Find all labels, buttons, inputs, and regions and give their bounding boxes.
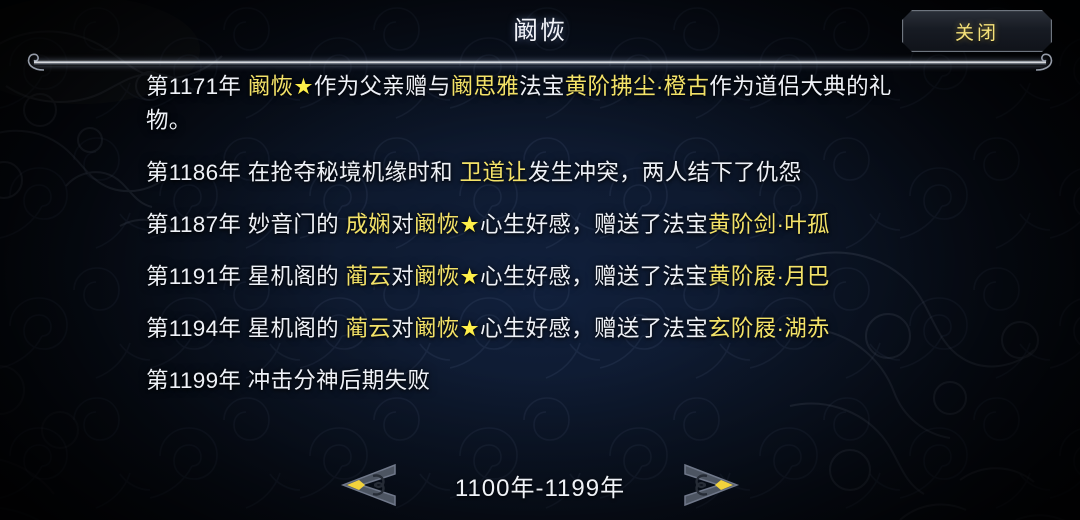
log-line-year: 第1187年 xyxy=(146,212,248,237)
close-button-label: 关闭 xyxy=(955,18,999,45)
log-line: 第1186年 在抢夺秘境机缘时和 卫道让发生冲突，两人结下了仇怨 xyxy=(146,156,930,190)
log-segment-name[interactable]: 阚恢 xyxy=(414,316,460,341)
event-log-scroll-area[interactable]: 第1169年 在行商时获得了收益，灵脉吸纳率暂增5% 第1171年 阚恢★作为父… xyxy=(0,64,1080,442)
log-line-year: 第1194年 xyxy=(146,316,248,341)
log-segment-plain: 星机阁的 xyxy=(248,316,346,341)
log-segment-plain: 对 xyxy=(391,212,414,237)
log-segment-star: ★ xyxy=(293,74,313,99)
log-line-year: 第1199年 xyxy=(146,368,248,393)
log-segment-star: ★ xyxy=(460,316,480,341)
log-line-year: 第1171年 xyxy=(146,74,248,99)
log-segment-name[interactable]: 成娴 xyxy=(346,212,392,237)
log-segment-plain: 星机阁的 xyxy=(248,264,346,289)
log-segment-star: ★ xyxy=(460,264,480,289)
log-segment-name[interactable]: 蔺云 xyxy=(346,264,392,289)
close-button[interactable]: 关闭 xyxy=(902,10,1052,52)
log-segment-name[interactable]: 阚恢 xyxy=(248,74,294,99)
log-segment-plain: 在抢夺秘境机缘时和 xyxy=(248,160,460,185)
log-segment-plain: 对 xyxy=(391,316,414,341)
log-segment-plain: 作为父亲赠与 xyxy=(314,74,451,99)
log-segment-item[interactable]: 黄阶剑·叶孤 xyxy=(708,212,830,237)
log-segment-plain: 心生好感，赠送了法宝 xyxy=(480,316,708,341)
log-segment-plain: 心生好感，赠送了法宝 xyxy=(480,212,708,237)
log-segment-item[interactable]: 玄阶屐·湖赤 xyxy=(708,316,830,341)
log-segment-plain: 冲击分神后期失败 xyxy=(248,368,430,393)
log-segment-star: ★ xyxy=(460,212,480,237)
log-line-year: 第1191年 xyxy=(146,264,248,289)
log-line: 第1194年 星机阁的 蔺云对阚恢★心生好感，赠送了法宝玄阶屐·湖赤 xyxy=(146,312,930,346)
log-segment-name[interactable]: 阚恢 xyxy=(414,264,460,289)
log-segment-item[interactable]: 黄阶屐·月巴 xyxy=(708,264,830,289)
log-line: 第1191年 星机阁的 蔺云对阚恢★心生好感，赠送了法宝黄阶屐·月巴 xyxy=(146,260,930,294)
log-line: 第1187年 妙音门的 成娴对阚恢★心生好感，赠送了法宝黄阶剑·叶孤 xyxy=(146,208,930,242)
log-segment-plain: 妙音门的 xyxy=(248,212,346,237)
log-segment-name[interactable]: 卫道让 xyxy=(460,160,528,185)
event-log-entries: 第1171年 阚恢★作为父亲赠与阚思雅法宝黄阶拂尘·橙古作为道侣大典的礼物。第1… xyxy=(146,70,930,398)
log-segment-plain: 法宝 xyxy=(519,74,565,99)
log-segment-plain: 对 xyxy=(391,264,414,289)
year-range-pager: 1100年-1199年 xyxy=(0,450,1080,520)
log-segment-plain: 心生好感，赠送了法宝 xyxy=(480,264,708,289)
log-segment-item[interactable]: 黄阶拂尘·橙古 xyxy=(565,74,710,99)
dialog-header: 阚恢 关闭 xyxy=(0,0,1080,58)
log-line-year: 第1186年 xyxy=(146,160,248,185)
log-segment-plain: 发生冲突，两人结下了仇怨 xyxy=(528,160,802,185)
log-segment-name[interactable]: 阚恢 xyxy=(414,212,460,237)
log-line: 第1171年 阚恢★作为父亲赠与阚思雅法宝黄阶拂尘·橙古作为道侣大典的礼物。 xyxy=(146,70,930,138)
year-range-label: 1100年-1199年 xyxy=(0,468,1080,503)
log-segment-name[interactable]: 蔺云 xyxy=(346,316,392,341)
next-page-button[interactable] xyxy=(683,462,747,508)
chevron-right-icon xyxy=(683,462,747,508)
biography-dialog: 阚恢 关闭 第1169年 在行商时获得了收益，灵脉吸纳率暂增5% 第1171年 … xyxy=(0,0,1080,520)
log-segment-name[interactable]: 阚思雅 xyxy=(451,74,519,99)
log-line: 第1199年 冲击分神后期失败 xyxy=(146,364,930,398)
